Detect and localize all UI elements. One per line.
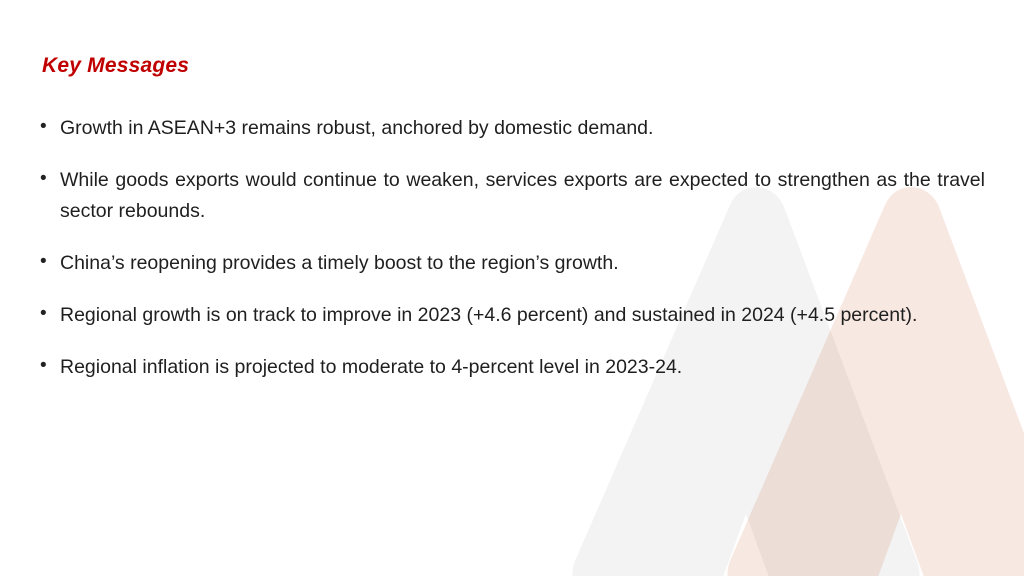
bullet-marker-icon: • xyxy=(40,113,60,141)
list-item-text: Growth in ASEAN+3 remains robust, anchor… xyxy=(60,113,985,144)
list-item: • China’s reopening provides a timely bo… xyxy=(40,248,985,279)
bullet-marker-icon: • xyxy=(40,248,60,276)
list-item: • While goods exports would continue to … xyxy=(40,165,985,227)
bullet-marker-icon: • xyxy=(40,300,60,328)
list-item-text: Regional growth is on track to improve i… xyxy=(60,300,985,331)
list-item: • Growth in ASEAN+3 remains robust, anch… xyxy=(40,113,985,144)
slide-canvas: Key Messages • Growth in ASEAN+3 remains… xyxy=(0,0,1024,576)
bullet-marker-icon: • xyxy=(40,165,60,193)
page-title: Key Messages xyxy=(42,54,189,78)
key-messages-list: • Growth in ASEAN+3 remains robust, anch… xyxy=(40,113,985,404)
list-item: • Regional inflation is projected to mod… xyxy=(40,352,985,383)
list-item: • Regional growth is on track to improve… xyxy=(40,300,985,331)
list-item-text: China’s reopening provides a timely boos… xyxy=(60,248,985,279)
list-item-text: Regional inflation is projected to moder… xyxy=(60,352,985,383)
list-item-text: While goods exports would continue to we… xyxy=(60,165,985,227)
bullet-marker-icon: • xyxy=(40,352,60,380)
